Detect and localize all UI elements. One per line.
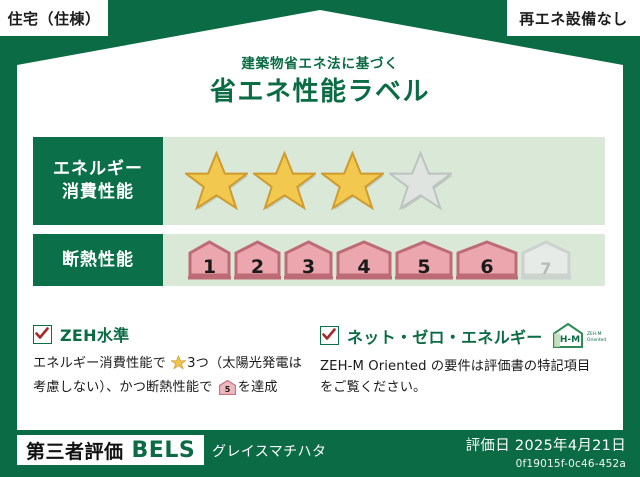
energy-label-line2: 消費性能 — [62, 181, 134, 204]
renewable-equipment-tag: 再エネ設備なし — [507, 0, 640, 36]
note-nze-title: ネット・ゼロ・エネルギー — [347, 324, 543, 348]
insulation-performance-label: 断熱性能 — [33, 234, 163, 286]
insulation-grade-badge: 6 — [456, 240, 518, 280]
evaluation-date: 評価日 2025年4月21日 — [466, 434, 626, 455]
label-title: 建築物省エネ法に基づく 省エネ性能ラベル — [0, 56, 640, 108]
evaluation-date-value: 2025年4月21日 — [515, 438, 626, 454]
insulation-grade-badge: 1 — [188, 240, 231, 280]
bottom-bar: 第三者評価 BELS グレイスマチハタ 評価日 2025年4月21日 0f190… — [0, 430, 640, 477]
check-icon — [33, 325, 52, 344]
notes-section: ZEH水準 エネルギー消費性能で 3つ（太陽光発電は考慮しない）、かつ断熱性能で… — [33, 322, 607, 403]
evaluation-date-label: 評価日 — [466, 438, 510, 454]
star-empty-icon — [389, 151, 452, 212]
note-zeh-body: エネルギー消費性能で 3つ（太陽光発電は考慮しない）、かつ断熱性能で 5 を達成 — [33, 353, 306, 403]
svg-text:Oriented: Oriented — [587, 337, 606, 343]
svg-text:H-M: H-M — [559, 335, 579, 345]
insulation-performance-row: 断熱性能 1234567 — [33, 234, 605, 286]
energy-performance-row: エネルギー 消費性能 — [33, 137, 605, 225]
note-nze-body: ZEH-M Oriented の要件は評価書の特記項目をご覧ください。 — [320, 356, 593, 399]
evaluation-info: 評価日 2025年4月21日 0f19015f-0c46-452a — [466, 434, 626, 470]
energy-label-line1: エネルギー — [53, 158, 143, 181]
zeh-m-oriented-logo-icon: H-M ZEH-M Oriented — [551, 322, 611, 349]
note-zeh-text-3: を達成 — [238, 380, 278, 395]
insulation-grade-badge: 7 — [521, 240, 571, 280]
star-rating — [185, 151, 452, 212]
insulation-grade-badges: 1234567 — [188, 240, 571, 280]
bels-en-label: BELS — [132, 438, 196, 463]
star-filled-icon — [321, 151, 384, 212]
property-name: グレイスマチハタ — [212, 441, 326, 461]
star-filled-icon — [185, 151, 248, 212]
insulation-grade-badge: 2 — [234, 240, 281, 280]
insulation-grade-badge: 5 — [395, 240, 453, 280]
title-subtitle: 建築物省エネ法に基づく — [0, 56, 640, 72]
note-zeh-text-1: エネルギー消費性能で — [33, 356, 166, 371]
building-type-tag: 住宅（住棟） — [0, 0, 108, 36]
evaluation-id: 0f19015f-0c46-452a — [466, 458, 626, 470]
bels-badge: 第三者評価 BELS — [17, 435, 204, 465]
note-zeh-title: ZEH水準 — [60, 322, 129, 346]
note-zeh-header: ZEH水準 — [33, 322, 306, 346]
energy-performance-label: エネルギー 消費性能 — [33, 137, 163, 225]
note-nze-header: ネット・ゼロ・エネルギー H-M ZEH-M Oriented — [320, 322, 593, 349]
inline-grade-badge-icon: 5 — [214, 384, 235, 399]
insulation-grade-badge: 3 — [284, 240, 333, 280]
energy-performance-value — [163, 137, 605, 225]
insulation-grade-badge: 4 — [336, 240, 392, 280]
bels-jp-label: 第三者評価 — [26, 437, 124, 464]
insulation-performance-value: 1234567 — [163, 234, 605, 286]
inline-star-icon — [167, 359, 186, 374]
note-net-zero-energy: ネット・ゼロ・エネルギー H-M ZEH-M Oriented ZEH-M Or… — [320, 322, 607, 403]
check-icon — [320, 326, 339, 345]
svg-text:ZEH-M: ZEH-M — [587, 331, 602, 337]
star-filled-icon — [253, 151, 316, 212]
svg-text:5: 5 — [224, 385, 230, 394]
performance-rows: エネルギー 消費性能 断熱性能 1234567 — [33, 137, 605, 295]
insulation-label-text: 断熱性能 — [62, 249, 134, 272]
note-zeh-standard: ZEH水準 エネルギー消費性能で 3つ（太陽光発電は考慮しない）、かつ断熱性能で… — [33, 322, 320, 403]
title-main: 省エネ性能ラベル — [0, 78, 640, 108]
energy-performance-label: 住宅（住棟） 再エネ設備なし 建築物省エネ法に基づく 省エネ性能ラベル エネルギ… — [0, 0, 640, 477]
